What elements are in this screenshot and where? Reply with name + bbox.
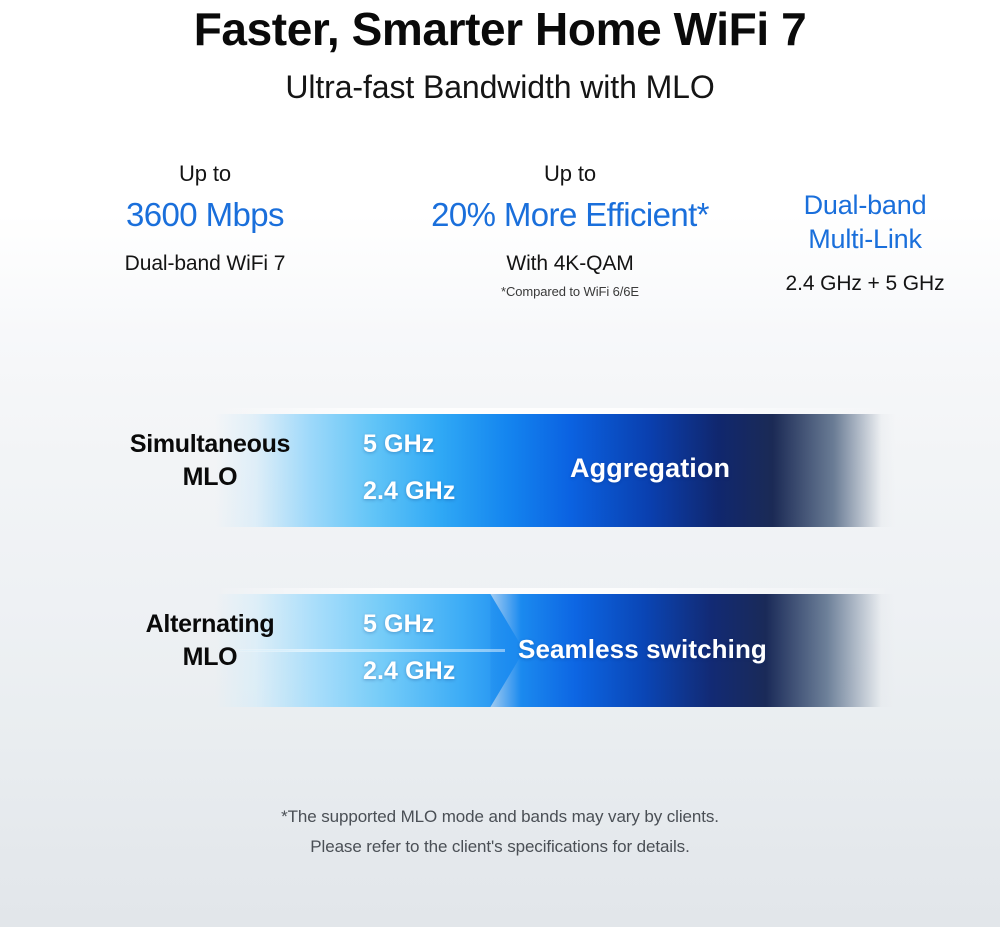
stat-caption: With 4K-QAM <box>410 250 730 277</box>
diagram-label-line-1: Simultaneous <box>130 430 290 458</box>
stat-value-line-2: Multi-Link <box>808 224 922 254</box>
infographic-page: Faster, Smarter Home WiFi 7 Ultra-fast B… <box>0 0 1000 927</box>
stat-caption: 2.4 GHz + 5 GHz <box>730 270 1000 297</box>
stat-value-line-1: Dual-band <box>804 190 927 220</box>
band-label-5ghz: 5 GHz <box>363 430 434 459</box>
diagram-simultaneous-mlo: Simultaneous MLO 5 GHz 2.4 GHz Aggregati… <box>0 404 1000 539</box>
stat-card-speed: Up to 3600 Mbps Dual-band WiFi 7 <box>0 160 410 277</box>
stat-value: 20% More Efficient* <box>410 194 730 236</box>
band-result-label: Seamless switching <box>518 634 767 665</box>
footer-line-2: Please refer to the client's specificati… <box>0 832 1000 862</box>
diagram-label-line-2: MLO <box>60 461 360 494</box>
band-highlight-edge <box>215 588 895 594</box>
diagram-label: Simultaneous MLO <box>60 428 360 494</box>
stat-card-multilink: Dual-band Multi-Link 2.4 GHz + 5 GHz <box>730 160 1000 297</box>
diagram-alternating-mlo: Alternating MLO 5 GHz 2.4 GHz Seamless s… <box>0 584 1000 719</box>
stat-value: Dual-band Multi-Link <box>730 188 1000 256</box>
stat-footnote: *Compared to WiFi 6/6E <box>410 283 730 301</box>
footer-line-1: *The supported MLO mode and bands may va… <box>0 802 1000 832</box>
stat-caption: Dual-band WiFi 7 <box>0 250 410 277</box>
stat-card-efficiency: Up to 20% More Efficient* With 4K-QAM *C… <box>410 160 730 301</box>
band-result-label: Aggregation <box>570 453 730 484</box>
band-highlight-edge <box>215 408 895 414</box>
page-subtitle: Ultra-fast Bandwidth with MLO <box>0 56 1000 106</box>
header-block: Faster, Smarter Home WiFi 7 Ultra-fast B… <box>0 0 1000 106</box>
band-label-24ghz: 2.4 GHz <box>363 657 455 686</box>
diagram-label-line-1: Alternating <box>146 610 275 638</box>
page-title: Faster, Smarter Home WiFi 7 <box>0 0 1000 56</box>
diagram-label-line-2: MLO <box>60 641 360 674</box>
stat-value: 3600 Mbps <box>0 194 410 236</box>
footer-disclaimer: *The supported MLO mode and bands may va… <box>0 802 1000 862</box>
band-label-5ghz: 5 GHz <box>363 610 434 639</box>
stats-row: Up to 3600 Mbps Dual-band WiFi 7 Up to 2… <box>0 160 1000 301</box>
stat-prefix: Up to <box>410 160 730 188</box>
stat-prefix: Up to <box>0 160 410 188</box>
band-label-24ghz: 2.4 GHz <box>363 477 455 506</box>
diagram-label: Alternating MLO <box>60 608 360 674</box>
